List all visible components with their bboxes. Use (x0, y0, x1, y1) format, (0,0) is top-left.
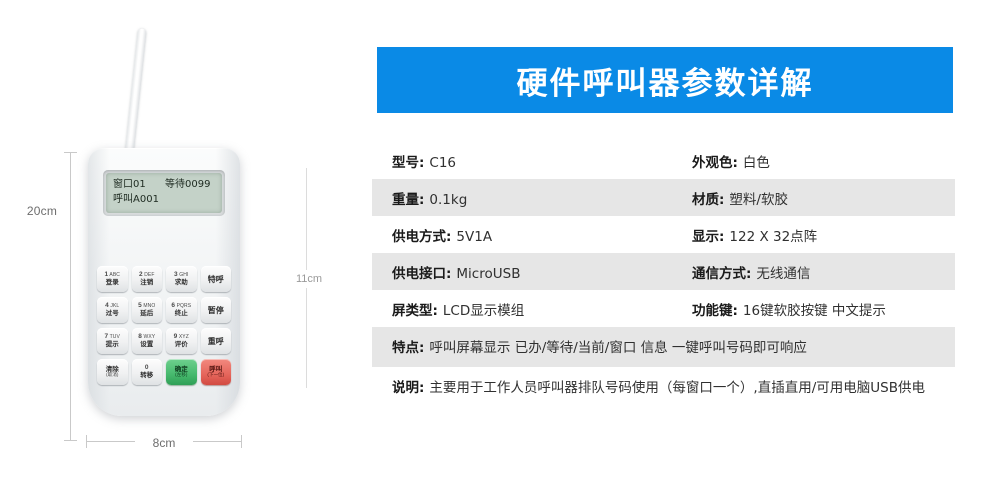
key-call-next[interactable]: 呼叫 (下一位) (201, 359, 232, 385)
key-main-label: 提示 (106, 342, 119, 349)
spec-cell-screen-type: 屏类型: LCD显示模组 (392, 299, 692, 319)
spec-cell-model: 型号: C16 (392, 151, 692, 171)
spec-label: 显示: (692, 225, 724, 245)
product-photo-panel: 20cm 8cm 11cm 窗口01 等待0099 呼叫A001 1 ABC 登… (0, 0, 360, 492)
spec-table: 型号: C16 外观色: 白色 重量: 0.1kg 材质: 塑料/软胶 供电方式… (372, 142, 955, 407)
key-confirm-left[interactable]: 确定 (左移) (166, 359, 197, 385)
spec-label: 重量: (392, 188, 424, 208)
table-row: 供电接口: MicroUSB 通信方式: 无线通信 (372, 253, 955, 290)
height-dimension-cap-bottom (64, 440, 77, 441)
spec-value: C16 (429, 155, 456, 171)
spec-value: 0.1kg (429, 192, 467, 208)
spec-banner: 硬件呼叫器参数详解 (377, 47, 953, 113)
key-3-help[interactable]: 3 GHI 求助 (166, 266, 197, 292)
spec-label: 说明: (392, 376, 424, 396)
key-main-label: 重呼 (208, 338, 224, 346)
key-special-call[interactable]: 特呼 (201, 266, 232, 292)
key-top-label: 9 XYZ (174, 334, 189, 341)
spec-label: 通信方式: (692, 262, 751, 282)
key-top-label: 4 JKL (105, 303, 119, 310)
spec-cell-note: 说明: 主要用于工作人员呼叫器排队号码使用（每窗口一个）,直插直用/可用电脑US… (392, 376, 955, 398)
spec-cell-display: 显示: 122 X 32点阵 (692, 225, 955, 245)
spec-label: 屏类型: (392, 299, 438, 319)
key-sub-label: (左移) (175, 373, 187, 378)
spec-cell-weight: 重量: 0.1kg (392, 188, 692, 208)
spec-label: 外观色: (692, 151, 738, 171)
key-top-label: 2 DEF (139, 272, 155, 279)
spec-cell-features: 特点: 呼叫屏幕显示 已办/等待/当前/窗口 信息 一键呼叫号码即可响应 (392, 336, 955, 358)
key-7-prompt[interactable]: 7 TUV 提示 (97, 328, 128, 354)
key-top-label: 6 PQRS (171, 303, 191, 310)
key-9-rating[interactable]: 9 XYZ 评价 (166, 328, 197, 354)
table-row: 重量: 0.1kg 材质: 塑料/软胶 (372, 179, 955, 216)
key-main-label: 过号 (106, 311, 119, 318)
lcd-waiting-text: 等待0099 (165, 177, 210, 192)
table-row: 供电方式: 5V1A 显示: 122 X 32点阵 (372, 216, 955, 253)
lcd-calling-text: 呼叫A001 (113, 192, 159, 207)
spec-value: 无线通信 (756, 262, 810, 282)
key-1-login[interactable]: 1 ABC 登录 (97, 266, 128, 292)
spec-value: 122 X 32点阵 (729, 225, 817, 245)
key-recall[interactable]: 重呼 (201, 328, 232, 354)
key-top-label: 7 TUV (105, 334, 120, 341)
spec-cell-power-supply: 供电方式: 5V1A (392, 225, 692, 245)
spec-panel: 硬件呼叫器参数详解 型号: C16 外观色: 白色 重量: 0.1kg 材质: … (360, 0, 1000, 492)
spec-label: 功能键: (692, 299, 738, 319)
key-main-label: 暂停 (208, 307, 224, 315)
key-main-label: 转移 (140, 373, 153, 380)
lcd-screen: 窗口01 等待0099 呼叫A001 (106, 173, 222, 213)
depth-dimension-label: 11cm (286, 270, 332, 288)
key-main-label: 延后 (140, 311, 153, 318)
spec-cell-power-port: 供电接口: MicroUSB (392, 262, 692, 282)
key-main-label: 登录 (106, 280, 119, 287)
table-row: 屏类型: LCD显示模组 功能键: 16键软胶按键 中文提示 (372, 290, 955, 327)
table-row: 型号: C16 外观色: 白色 (372, 142, 955, 179)
key-main-label: 求助 (175, 280, 188, 287)
spec-label: 供电接口: (392, 262, 451, 282)
key-top-label: 5 MNO (138, 303, 155, 310)
key-clear-cancel[interactable]: 清除 (取消) (97, 359, 128, 385)
key-2-logout[interactable]: 2 DEF 注销 (132, 266, 163, 292)
height-dimension-cap-top (64, 152, 77, 153)
lcd-line-1: 窗口01 等待0099 (113, 177, 215, 192)
spec-label: 特点: (392, 336, 424, 356)
key-main-label: 终止 (175, 311, 188, 318)
key-0-transfer[interactable]: 0 转移 (132, 359, 163, 385)
spec-value: 塑料/软胶 (729, 188, 788, 208)
spec-value: 主要用于工作人员呼叫器排队号码使用（每窗口一个）,直插直用/可用电脑USB供电 (429, 379, 925, 398)
key-main-label: 特呼 (208, 276, 224, 284)
key-8-settings[interactable]: 8 WXY 设置 (132, 328, 163, 354)
height-dimension-label: 20cm (14, 201, 70, 221)
key-6-stop[interactable]: 6 PQRS 终止 (166, 297, 197, 323)
width-dimension-label: 8cm (135, 434, 193, 452)
lcd-bezel: 窗口01 等待0099 呼叫A001 (103, 170, 225, 216)
spec-value: 16键软胶按键 中文提示 (743, 299, 886, 319)
spec-value: LCD显示模组 (443, 299, 524, 319)
table-row-features: 特点: 呼叫屏幕显示 已办/等待/当前/窗口 信息 一键呼叫号码即可响应 (372, 327, 955, 367)
spec-cell-material: 材质: 塑料/软胶 (692, 188, 955, 208)
spec-value: 呼叫屏幕显示 已办/等待/当前/窗口 信息 一键呼叫号码即可响应 (429, 339, 807, 358)
key-top-label: 3 GHI (174, 272, 188, 279)
key-main-label: 设置 (140, 342, 153, 349)
key-5-delay[interactable]: 5 MNO 延后 (132, 297, 163, 323)
lcd-line-2: 呼叫A001 (113, 192, 215, 207)
page-title: 硬件呼叫器参数详解 (517, 58, 814, 103)
key-sub-label: (下一位) (207, 373, 224, 378)
spec-label: 材质: (692, 188, 724, 208)
key-top-label: 8 WXY (138, 334, 155, 341)
table-row-note: 说明: 主要用于工作人员呼叫器排队号码使用（每窗口一个）,直插直用/可用电脑US… (372, 367, 955, 407)
height-dimension-line (70, 152, 71, 440)
key-main-label: 注销 (140, 280, 153, 287)
key-pause[interactable]: 暂停 (201, 297, 232, 323)
keypad: 1 ABC 登录 2 DEF 注销 3 GHI 求助 特呼 4 JKL 过号 5… (97, 266, 231, 385)
width-dimension-cap-left (86, 435, 87, 448)
caller-device-body: 窗口01 等待0099 呼叫A001 1 ABC 登录 2 DEF 注销 3 G… (88, 148, 240, 416)
spec-cell-color: 外观色: 白色 (692, 151, 955, 171)
spec-label: 型号: (392, 151, 424, 171)
spec-label: 供电方式: (392, 225, 451, 245)
width-dimension-cap-right (241, 435, 242, 448)
spec-value: MicroUSB (456, 266, 520, 282)
key-4-skip[interactable]: 4 JKL 过号 (97, 297, 128, 323)
key-main-label: 评价 (175, 342, 188, 349)
key-sub-label: (取消) (106, 373, 118, 378)
spec-value: 5V1A (456, 229, 492, 245)
spec-value: 白色 (743, 151, 770, 171)
spec-cell-communication: 通信方式: 无线通信 (692, 262, 955, 282)
spec-cell-function-keys: 功能键: 16键软胶按键 中文提示 (692, 299, 955, 319)
key-top-label: 0 (145, 365, 149, 372)
lcd-window-text: 窗口01 (113, 177, 165, 192)
key-top-label: 1 ABC (104, 272, 120, 279)
